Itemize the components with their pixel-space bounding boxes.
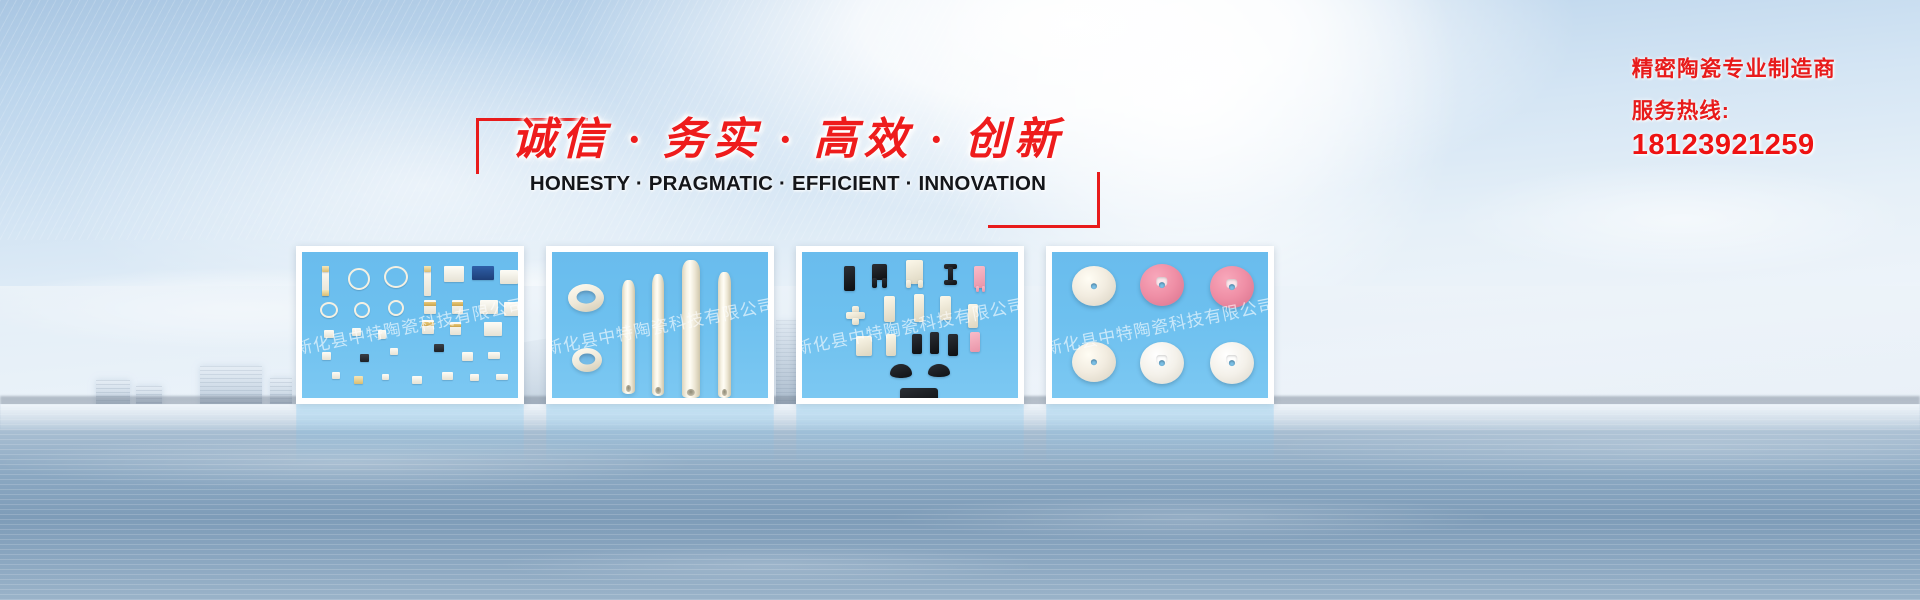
hotline-phone-number[interactable]: 18123921259	[1632, 127, 1836, 163]
product-photo: 新化县中特陶瓷科技有限公司	[802, 252, 1018, 398]
contact-block: 精密陶瓷专业制造商 服务热线: 18123921259	[1632, 54, 1836, 163]
product-gallery: 新化县中特陶瓷科技有限公司 新化县中特陶瓷科技有限公司	[0, 246, 1920, 404]
watermark: 新化县中特陶瓷科技有限公司	[802, 290, 1018, 359]
headline-block: 诚信 · 务实 · 高效 · 创新 HONESTY · PRAGMATIC · …	[476, 112, 1100, 204]
product-photo: 新化县中特陶瓷科技有限公司	[1052, 252, 1268, 398]
product-photo: 新化县中特陶瓷科技有限公司	[302, 252, 518, 398]
ceramic-disc	[1140, 342, 1184, 384]
product-card-ceramic-tubes-and-rings[interactable]: 新化县中特陶瓷科技有限公司	[546, 246, 774, 404]
ceramic-disc	[1210, 266, 1254, 308]
company-tagline: 精密陶瓷专业制造商	[1632, 54, 1836, 84]
ceramic-ring	[572, 348, 602, 372]
promo-banner: 诚信 · 务实 · 高效 · 创新 HONESTY · PRAGMATIC · …	[0, 0, 1920, 600]
ceramic-disc	[1140, 264, 1184, 306]
ceramic-tube	[718, 272, 731, 398]
ceramic-arc	[890, 364, 912, 378]
product-card-ceramic-blocks-and-arcs[interactable]: 新化县中特陶瓷科技有限公司	[796, 246, 1024, 404]
ceramic-tube	[682, 260, 700, 398]
product-card-ceramic-discs[interactable]: 新化县中特陶瓷科技有限公司	[1046, 246, 1274, 404]
ceramic-arc	[928, 364, 950, 377]
water-horizon-glint	[0, 404, 1920, 430]
slogan-english: HONESTY · PRAGMATIC · EFFICIENT · INNOVA…	[476, 170, 1100, 198]
product-photo: 新化县中特陶瓷科技有限公司	[552, 252, 768, 398]
water-surface	[0, 404, 1920, 600]
hotline-label: 服务热线:	[1632, 97, 1836, 125]
ceramic-disc	[1072, 266, 1116, 306]
ceramic-disc	[1210, 342, 1254, 384]
product-card-smd-chip-components[interactable]: 新化县中特陶瓷科技有限公司	[296, 246, 524, 404]
slogan-chinese: 诚信 · 务实 · 高效 · 创新	[476, 112, 1100, 168]
ceramic-disc	[1072, 342, 1116, 382]
ceramic-tube	[652, 274, 664, 396]
ceramic-tube	[622, 280, 635, 394]
ceramic-ring	[568, 284, 604, 312]
